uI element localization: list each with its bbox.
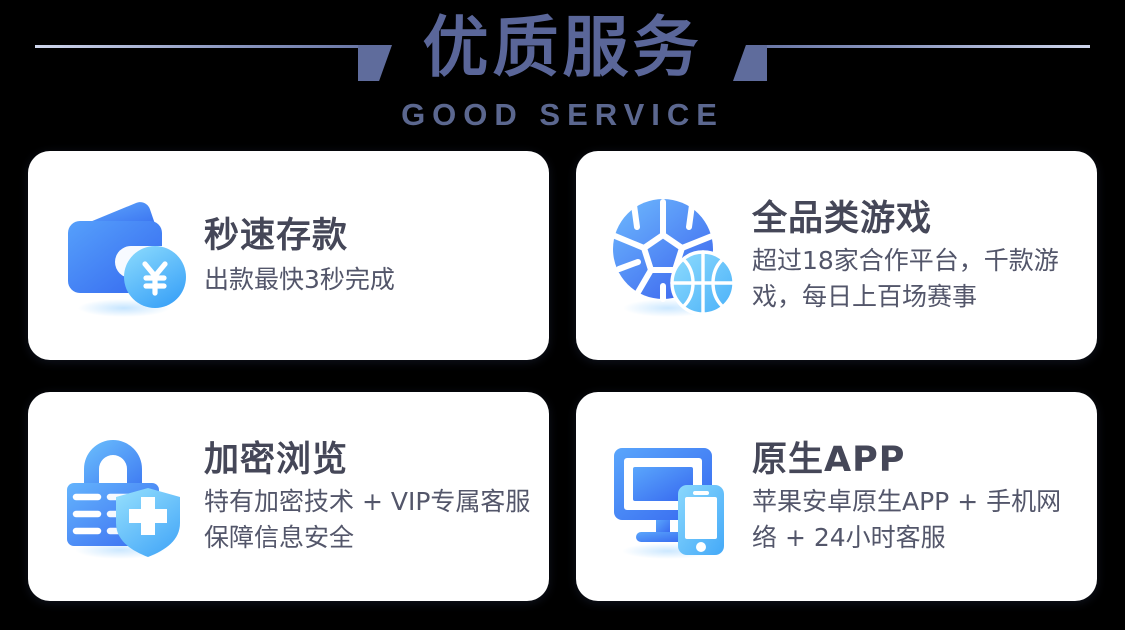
soccer-basketball-icon	[606, 190, 738, 322]
card-text-block: 原生APP 苹果安卓原生APP + 手机网络 + 24小时客服	[752, 438, 1079, 556]
card-description: 特有加密技术 + VIP专属客服保障信息安全	[204, 484, 531, 556]
feature-card-encryption[interactable]: 加密浏览 特有加密技术 + VIP专属客服保障信息安全	[28, 392, 549, 601]
banner-header: 优质服务 GOOD SERVICE	[0, 0, 1125, 145]
card-description: 出款最快3秒完成	[204, 262, 531, 298]
card-title: 加密浏览	[204, 438, 531, 482]
card-title: 秒速存款	[204, 214, 531, 258]
card-title: 全品类游戏	[752, 197, 1079, 241]
feature-card-grid: 秒速存款 出款最快3秒完成	[28, 151, 1097, 601]
promo-banner: 优质服务 GOOD SERVICE	[0, 0, 1125, 630]
feature-card-native-app[interactable]: 原生APP 苹果安卓原生APP + 手机网络 + 24小时客服	[576, 392, 1097, 601]
card-description: 苹果安卓原生APP + 手机网络 + 24小时客服	[752, 484, 1079, 556]
feature-card-deposit[interactable]: 秒速存款 出款最快3秒完成	[28, 151, 549, 360]
feature-card-games[interactable]: 全品类游戏 超过18家合作平台，千款游戏，每日上百场赛事	[576, 151, 1097, 360]
card-text-block: 秒速存款 出款最快3秒完成	[204, 214, 531, 298]
card-title: 原生APP	[752, 438, 1079, 482]
page-subtitle: GOOD SERVICE	[0, 97, 1125, 133]
card-text-block: 加密浏览 特有加密技术 + VIP专属客服保障信息安全	[204, 438, 531, 556]
monitor-phone-icon	[606, 431, 738, 563]
lock-shield-icon	[58, 431, 190, 563]
card-description: 超过18家合作平台，千款游戏，每日上百场赛事	[752, 243, 1079, 315]
wallet-yen-icon	[58, 190, 190, 322]
card-text-block: 全品类游戏 超过18家合作平台，千款游戏，每日上百场赛事	[752, 197, 1079, 315]
page-title: 优质服务	[0, 8, 1125, 88]
